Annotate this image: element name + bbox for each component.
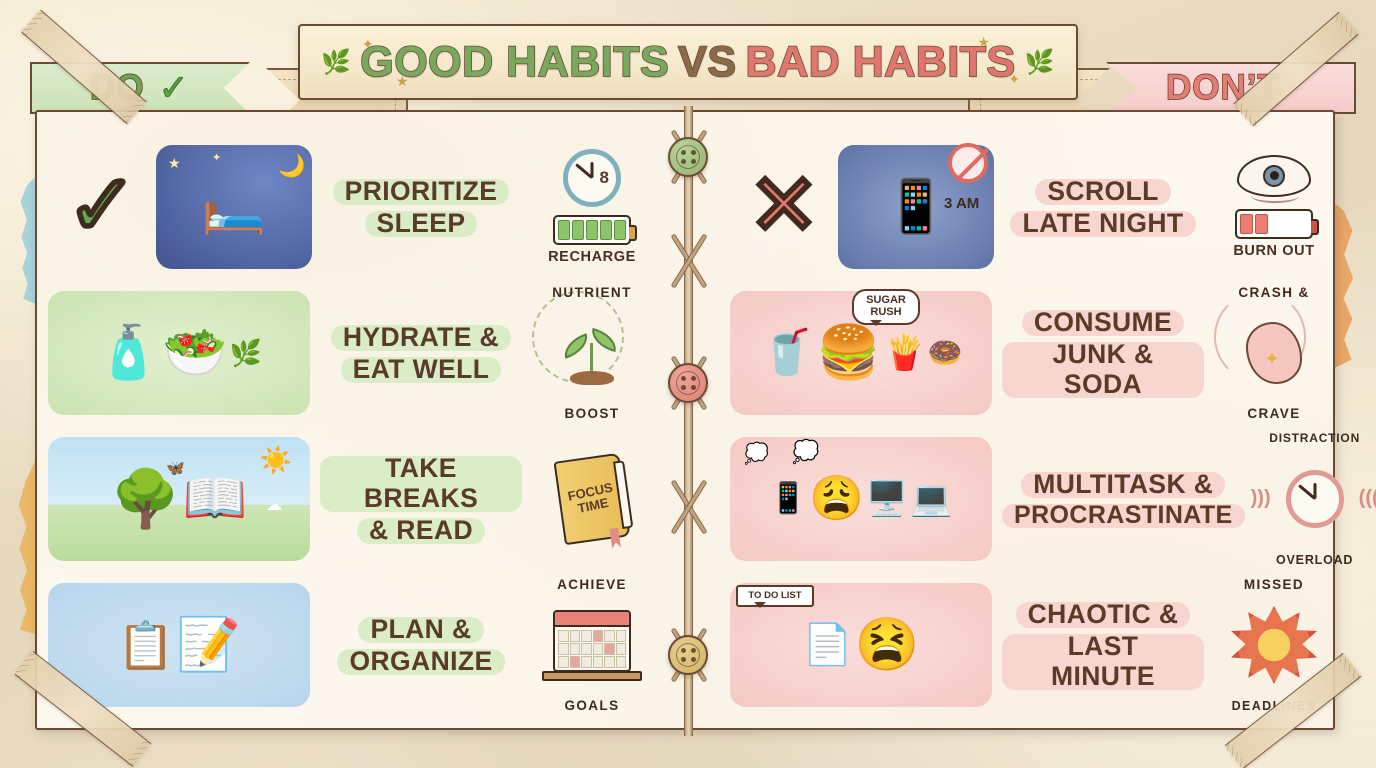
badge-caption: RECHARGE xyxy=(548,250,636,265)
habit-illustration: ✓ 🛏️ ★ 🌙 ✦ xyxy=(48,141,316,273)
shake-lines-left: ))) xyxy=(1251,487,1271,510)
habit-label-line2: EAT WELL xyxy=(341,353,502,385)
leaf-sprig-icon-left: 🌿 xyxy=(321,48,351,77)
badge-caption: BURN OUT xyxy=(1233,244,1314,259)
badge-caption-top: NUTRIENT xyxy=(526,285,658,300)
bookmark-icon xyxy=(609,528,621,549)
calendar-icon xyxy=(553,610,631,672)
star-icon-small: ✦ xyxy=(212,151,221,164)
star-sparkle-icon-3: ★ xyxy=(977,34,990,51)
button-yellow[interactable] xyxy=(668,635,708,675)
habit-label-line2: ORGANIZE xyxy=(337,645,504,677)
plan-organize-scene: 📋 📝 xyxy=(48,583,310,707)
habit-label-line1: PRIORITIZE xyxy=(333,175,510,207)
scene-emoji: 🧴 🥗 🌿 xyxy=(48,291,310,415)
torn-paper-strip-blue xyxy=(14,176,36,304)
burger-icon: 🍔 xyxy=(816,327,881,379)
battery-low-icon xyxy=(1235,209,1313,239)
monitor-icon: 🖥️ xyxy=(866,482,908,516)
thought-cloud-icon-2: 💭 xyxy=(792,439,819,465)
habit-label-line2: LAST MINUTE xyxy=(1002,630,1204,692)
reading-under-tree-scene: 🌳 📖 ☀️ 🦋 ☁ xyxy=(48,437,310,561)
habit-label-line2: LATE NIGHT xyxy=(1010,207,1195,239)
habit-illustration: ✕ 📱 3 AM xyxy=(730,141,998,273)
habit-row[interactable]: 📋 📝 PLAN & ORGANIZE ACHIEVE xyxy=(48,572,658,718)
title-banner: 🌿 GOOD HABITS VS BAD HABITS 🌿 ✦ ★ ★ ✦ xyxy=(298,24,1078,100)
habit-label-line1: CHAOTIC & xyxy=(1016,598,1191,630)
habit-label-line1: SCROLL xyxy=(1035,175,1170,207)
tab-dont[interactable]: DON’T xyxy=(1106,62,1356,114)
sugar-rush-bubble: SUGAR RUSH xyxy=(852,289,920,325)
good-habits-column: ✓ 🛏️ ★ 🌙 ✦ PRIORITIZE SLEEP 8 xyxy=(48,134,658,718)
habit-label-line1: MULTITASK & xyxy=(1021,468,1225,500)
frustrated-person-icon: 😫 xyxy=(855,619,920,671)
leaf-sprig-icon-right: 🌿 xyxy=(1025,48,1055,77)
habit-illustration: 📄 😫 TO DO LIST xyxy=(730,579,998,711)
badge-caption-bottom: BOOST xyxy=(526,406,658,421)
reading-icon: 📖 xyxy=(182,473,247,525)
habit-badge: DISTRACTION ))) ((( OVERLOAD xyxy=(1249,433,1376,565)
habit-label-line2: & READ xyxy=(357,514,485,546)
habit-label: HYDRATE & EAT WELL xyxy=(316,321,526,385)
stressed-person-icon: 😩 xyxy=(809,477,864,521)
badge-caption-bottom: OVERLOAD xyxy=(1249,553,1376,567)
bubble-line1: SUGAR xyxy=(866,294,906,306)
habit-label-line2: SLEEP xyxy=(365,207,478,239)
hydrate-eat-scene: 🧴 🥗 🌿 xyxy=(48,291,310,415)
badge-caption-top: MISSED xyxy=(1208,577,1340,592)
scene-emoji: 📋 📝 xyxy=(48,583,310,707)
donut-icon: 🍩 xyxy=(928,339,963,367)
habit-label-line1: CONSUME xyxy=(1022,306,1184,338)
thought-cloud-icon-1: 💭 xyxy=(744,441,769,466)
title-bad-habits: BAD HABITS xyxy=(746,38,1016,87)
clock-icon: 8 xyxy=(563,149,621,207)
habit-badge: NUTRIENT BOOST xyxy=(526,287,658,419)
calendar-base xyxy=(542,671,642,681)
battery-full-icon xyxy=(553,215,631,245)
title-vs: VS xyxy=(678,38,736,87)
writing-girl-icon: 📝 xyxy=(176,619,241,671)
focus-time-book-icon: FOCUS TIME xyxy=(553,453,630,545)
stitch-cross xyxy=(661,232,717,290)
red-x-icon: ✕ xyxy=(732,153,836,257)
star-sparkle-icon-2: ★ xyxy=(396,73,409,90)
alarm-clock-icon xyxy=(1286,470,1344,528)
habit-illustration: 📱 😩 🖥️ 💻 💭 💭 xyxy=(730,433,998,565)
habit-label-line2: JUNK & SODA xyxy=(1002,338,1204,400)
center-stitched-divider xyxy=(688,106,689,736)
checkmark-icon: ✓ xyxy=(159,67,189,109)
laptop-icon: 💻 xyxy=(910,482,952,516)
leaf-icon: 🌿 xyxy=(230,340,262,366)
water-bottle-icon: 🧴 xyxy=(96,327,161,379)
habit-label: TAKE BREAKS & READ xyxy=(316,452,526,547)
habit-label: SCROLL LATE NIGHT xyxy=(998,175,1208,239)
habit-badge: FOCUS TIME xyxy=(526,433,658,565)
habit-row[interactable]: ✓ 🛏️ ★ 🌙 ✦ PRIORITIZE SLEEP 8 xyxy=(48,134,658,280)
papers-icon: 📄 xyxy=(803,625,853,665)
moon-icon: 🌙 xyxy=(278,153,305,179)
fries-icon: 🍟 xyxy=(883,336,925,370)
bubble-line2: RUSH xyxy=(870,306,901,318)
habit-row[interactable]: 📄 😫 TO DO LIST CHAOTIC & LAST MINUTE MIS… xyxy=(730,572,1340,718)
shake-lines-right: ((( xyxy=(1359,487,1376,510)
scene-time-tag: 3 AM xyxy=(944,195,979,212)
no-clock-icon xyxy=(948,143,988,183)
todo-list-note: TO DO LIST xyxy=(736,585,814,607)
healthy-plate-icon: 🥗 xyxy=(163,327,228,379)
habit-label: PRIORITIZE SLEEP xyxy=(316,175,526,239)
habit-row[interactable]: 🥤 🍔 🍟 🍩 SUGAR RUSH CONSUME JUNK & SODA xyxy=(730,280,1340,426)
tired-eye-icon xyxy=(1237,155,1311,197)
todo-list-title: TO DO LIST xyxy=(748,590,801,601)
tree-icon: 🌳 xyxy=(111,471,181,527)
bad-habits-column: ✕ 📱 3 AM SCROLL LATE NIGHT BURN OUT xyxy=(730,134,1340,718)
habit-label: CHAOTIC & LAST MINUTE xyxy=(998,598,1208,693)
badge-caption-bottom: GOALS xyxy=(526,698,658,713)
habit-badge: 8 RECHARGE xyxy=(526,141,658,273)
habit-label-line1: PLAN & xyxy=(358,613,483,645)
habit-badge: CRASH & CRAVE xyxy=(1208,287,1340,419)
clock-number: 8 xyxy=(600,168,609,188)
habit-illustration: 🧴 🥗 🌿 xyxy=(48,287,316,419)
habit-label-line1: HYDRATE & xyxy=(331,321,511,353)
smartphone-icon: 📱 xyxy=(770,484,807,514)
green-check-icon: ✓ xyxy=(50,153,154,257)
habit-illustration: 🥤 🍔 🍟 🍩 SUGAR RUSH xyxy=(730,287,998,419)
infographic-poster: 🌿 GOOD HABITS VS BAD HABITS 🌿 ✦ ★ ★ ✦ DO… xyxy=(0,0,1376,768)
cloud-icon: ☁ xyxy=(266,495,282,515)
sun-icon: ☀️ xyxy=(260,445,292,476)
habit-row[interactable]: 📱 😩 🖥️ 💻 💭 💭 MULTITASK & PROCRASTINATE D… xyxy=(730,426,1340,572)
starburst-icon xyxy=(1231,606,1317,684)
habit-row[interactable]: 🌳 📖 ☀️ 🦋 ☁ TAKE BREAKS & READ FOCUS TI xyxy=(48,426,658,572)
badge-caption-bottom: CRAVE xyxy=(1208,406,1340,421)
soda-can-icon: 🥤 xyxy=(760,331,815,375)
star-sparkle-icon-4: ✦ xyxy=(1008,71,1020,88)
habit-label: PLAN & ORGANIZE xyxy=(316,613,526,677)
badge-caption-top: ACHIEVE xyxy=(526,577,658,592)
butterfly-icon: 🦋 xyxy=(166,459,185,477)
badge-caption-top: CRASH & xyxy=(1208,285,1340,300)
button-green[interactable] xyxy=(668,137,708,177)
habit-label: MULTITASK & PROCRASTINATE xyxy=(998,468,1249,531)
button-red[interactable] xyxy=(668,363,708,403)
habit-label-line1: TAKE BREAKS xyxy=(320,452,522,514)
habit-badge: BURN OUT xyxy=(1208,141,1340,273)
habit-label-line2: PROCRASTINATE xyxy=(1002,500,1245,531)
sleeping-girl-scene: 🛏️ ★ 🌙 ✦ xyxy=(156,145,312,269)
star-icon: ★ xyxy=(168,155,181,172)
habit-illustration: 🌳 📖 ☀️ 🦋 ☁ xyxy=(48,433,316,565)
multitask-scene: 📱 😩 🖥️ 💻 💭 💭 xyxy=(730,437,992,561)
habit-badge: ACHIEVE GOALS xyxy=(526,579,658,711)
checklist-icon: 📋 xyxy=(117,622,174,668)
habit-row[interactable]: 🧴 🥗 🌿 HYDRATE & EAT WELL NUTRIENT B xyxy=(48,280,658,426)
scene-emoji: 📱 😩 🖥️ 💻 xyxy=(730,437,992,561)
habit-row[interactable]: ✕ 📱 3 AM SCROLL LATE NIGHT BURN OUT xyxy=(730,134,1340,280)
star-sparkle-icon-1: ✦ xyxy=(362,36,374,53)
stitch-cross xyxy=(661,478,717,536)
badge-caption-top: DISTRACTION xyxy=(1249,431,1376,445)
sprout-icon xyxy=(556,321,628,385)
habit-label: CONSUME JUNK & SODA xyxy=(998,306,1208,401)
habit-illustration: 📋 📝 xyxy=(48,579,316,711)
